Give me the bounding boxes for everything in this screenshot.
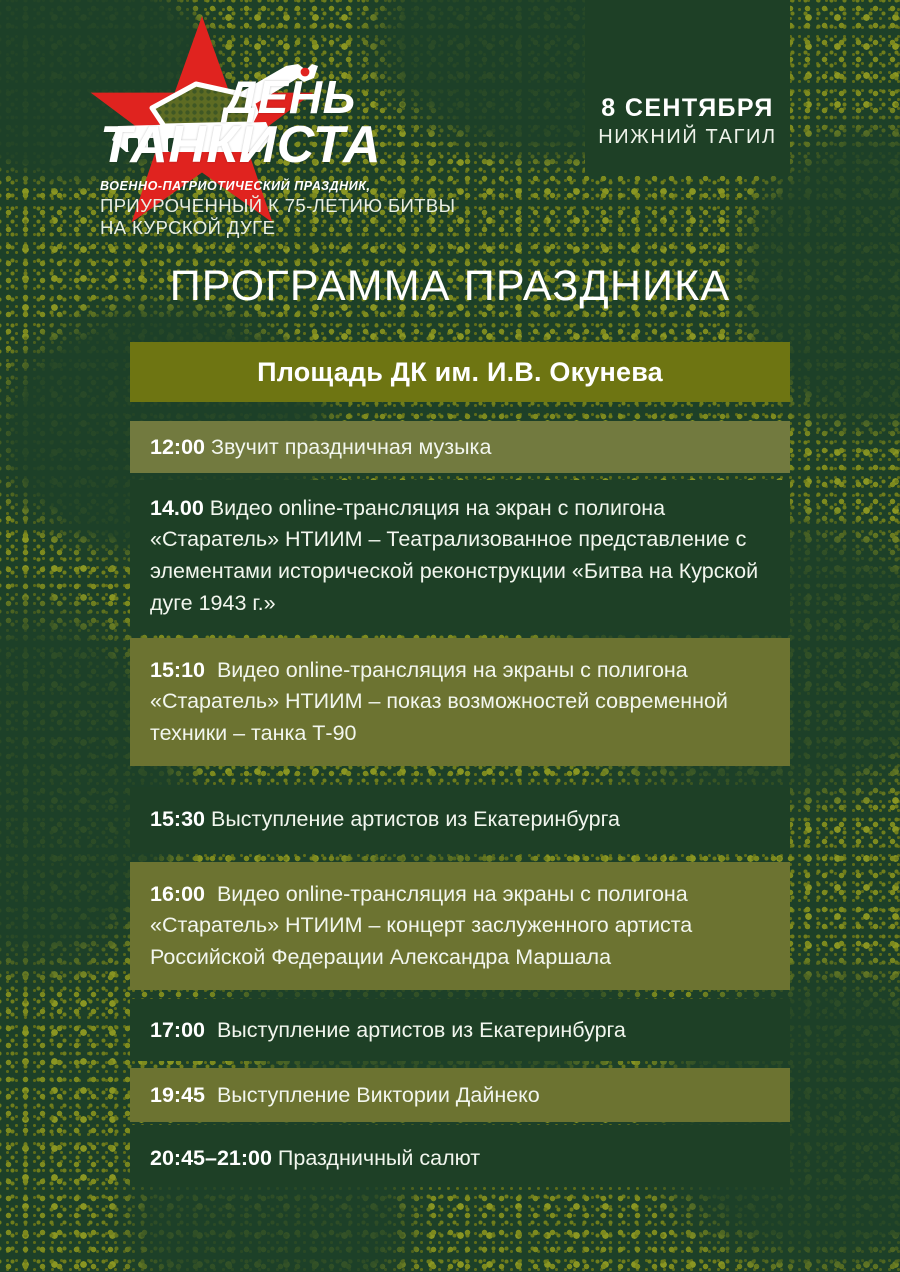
event-city: НИЖНИЙ ТАГИЛ: [585, 125, 790, 150]
program-row: 14.00 Видео online-трансляция на экран с…: [130, 488, 790, 624]
program-row-description: Видео online-трансляция на экран с полиг…: [150, 496, 758, 615]
venue-label: Площадь ДК им. И.В. Окунева: [257, 357, 663, 388]
subtitle-line-2: НА КУРСКОЙ ДУГЕ: [100, 217, 520, 240]
program-row-text: 15:10 Видео online-трансляция на экраны …: [150, 655, 776, 750]
page-title: ПРОГРАММА ПРАЗДНИКА: [0, 262, 900, 311]
logo-wordmark: ДЕНЬ ТАНКИСТА: [206, 76, 426, 170]
logo-line-2: ТАНКИСТА: [100, 121, 426, 170]
program-row-description: Выступление артистов из Екатеринбурга: [217, 1018, 626, 1042]
program-row: 16:00 Видео online-трансляция на экраны …: [130, 862, 790, 990]
program-row-description: Праздничный салют: [278, 1146, 480, 1170]
date-location-panel: 8 СЕНТЯБРЯ НИЖНИЙ ТАГИЛ: [585, 0, 790, 176]
event-logo: ДЕНЬ ТАНКИСТА: [86, 16, 416, 176]
poster-header: ДЕНЬ ТАНКИСТА ВОЕННО-ПАТРИОТИЧЕСКИЙ ПРАЗ…: [0, 0, 900, 255]
subtitle-bold-line: ВОЕННО-ПАТРИОТИЧЕСКИЙ ПРАЗДНИК,: [100, 178, 520, 195]
program-row: 15:30 Выступление артистов из Екатеринбу…: [130, 790, 790, 848]
program-row-time: 20:45–21:00: [150, 1146, 272, 1170]
program-row-description: Выступление Виктории Дайнеко: [217, 1083, 540, 1107]
program-row-time: 15:30: [150, 807, 205, 831]
event-date: 8 СЕНТЯБРЯ: [585, 95, 790, 123]
program-row-time: 16:00: [150, 882, 205, 906]
event-subtitle: ВОЕННО-ПАТРИОТИЧЕСКИЙ ПРАЗДНИК, ПРИУРОЧЕ…: [100, 178, 520, 240]
program-row: 19:45 Выступление Виктории Дайнеко: [130, 1068, 790, 1122]
program-row-time: 17:00: [150, 1018, 205, 1042]
program-row-text: 15:30 Выступление артистов из Екатеринбу…: [150, 804, 620, 835]
program-row: 12:00 Звучит праздничная музыка: [130, 421, 790, 473]
poster-root: ДЕНЬ ТАНКИСТА ВОЕННО-ПАТРИОТИЧЕСКИЙ ПРАЗ…: [0, 0, 900, 1272]
program-row-description: Видео online-трансляция на экраны с поли…: [150, 658, 728, 745]
program-row-text: 17:00 Выступление артистов из Екатеринбу…: [150, 1015, 626, 1046]
logo-line-1: ДЕНЬ: [224, 76, 426, 119]
program-row: 17:00 Выступление артистов из Екатеринбу…: [130, 1001, 790, 1059]
venue-header-bar: Площадь ДК им. И.В. Окунева: [130, 342, 790, 402]
program-row-text: 16:00 Видео online-трансляция на экраны …: [150, 879, 776, 974]
program-row-description: Видео online-трансляция на экраны с поли…: [150, 882, 692, 969]
program-row-description: Звучит праздничная музыка: [211, 435, 491, 459]
program-row: 20:45–21:00 Праздничный салют: [130, 1131, 790, 1185]
program-row-description: Выступление артистов из Екатеринбурга: [211, 807, 620, 831]
program-row-time: 19:45: [150, 1083, 205, 1107]
program-row-time: 12:00: [150, 435, 205, 459]
program-row-text: 19:45 Выступление Виктории Дайнеко: [150, 1080, 540, 1111]
program-row-time: 15:10: [150, 658, 205, 682]
subtitle-line-1: ПРИУРОЧЕННЫЙ К 75-ЛЕТИЮ БИТВЫ: [100, 195, 520, 218]
program-row: 15:10 Видео online-трансляция на экраны …: [130, 638, 790, 766]
program-row-time: 14.00: [150, 496, 204, 520]
program-row-text: 20:45–21:00 Праздничный салют: [150, 1143, 480, 1174]
program-row-text: 12:00 Звучит праздничная музыка: [150, 432, 491, 463]
program-row-text: 14.00 Видео online-трансляция на экран с…: [150, 493, 776, 619]
